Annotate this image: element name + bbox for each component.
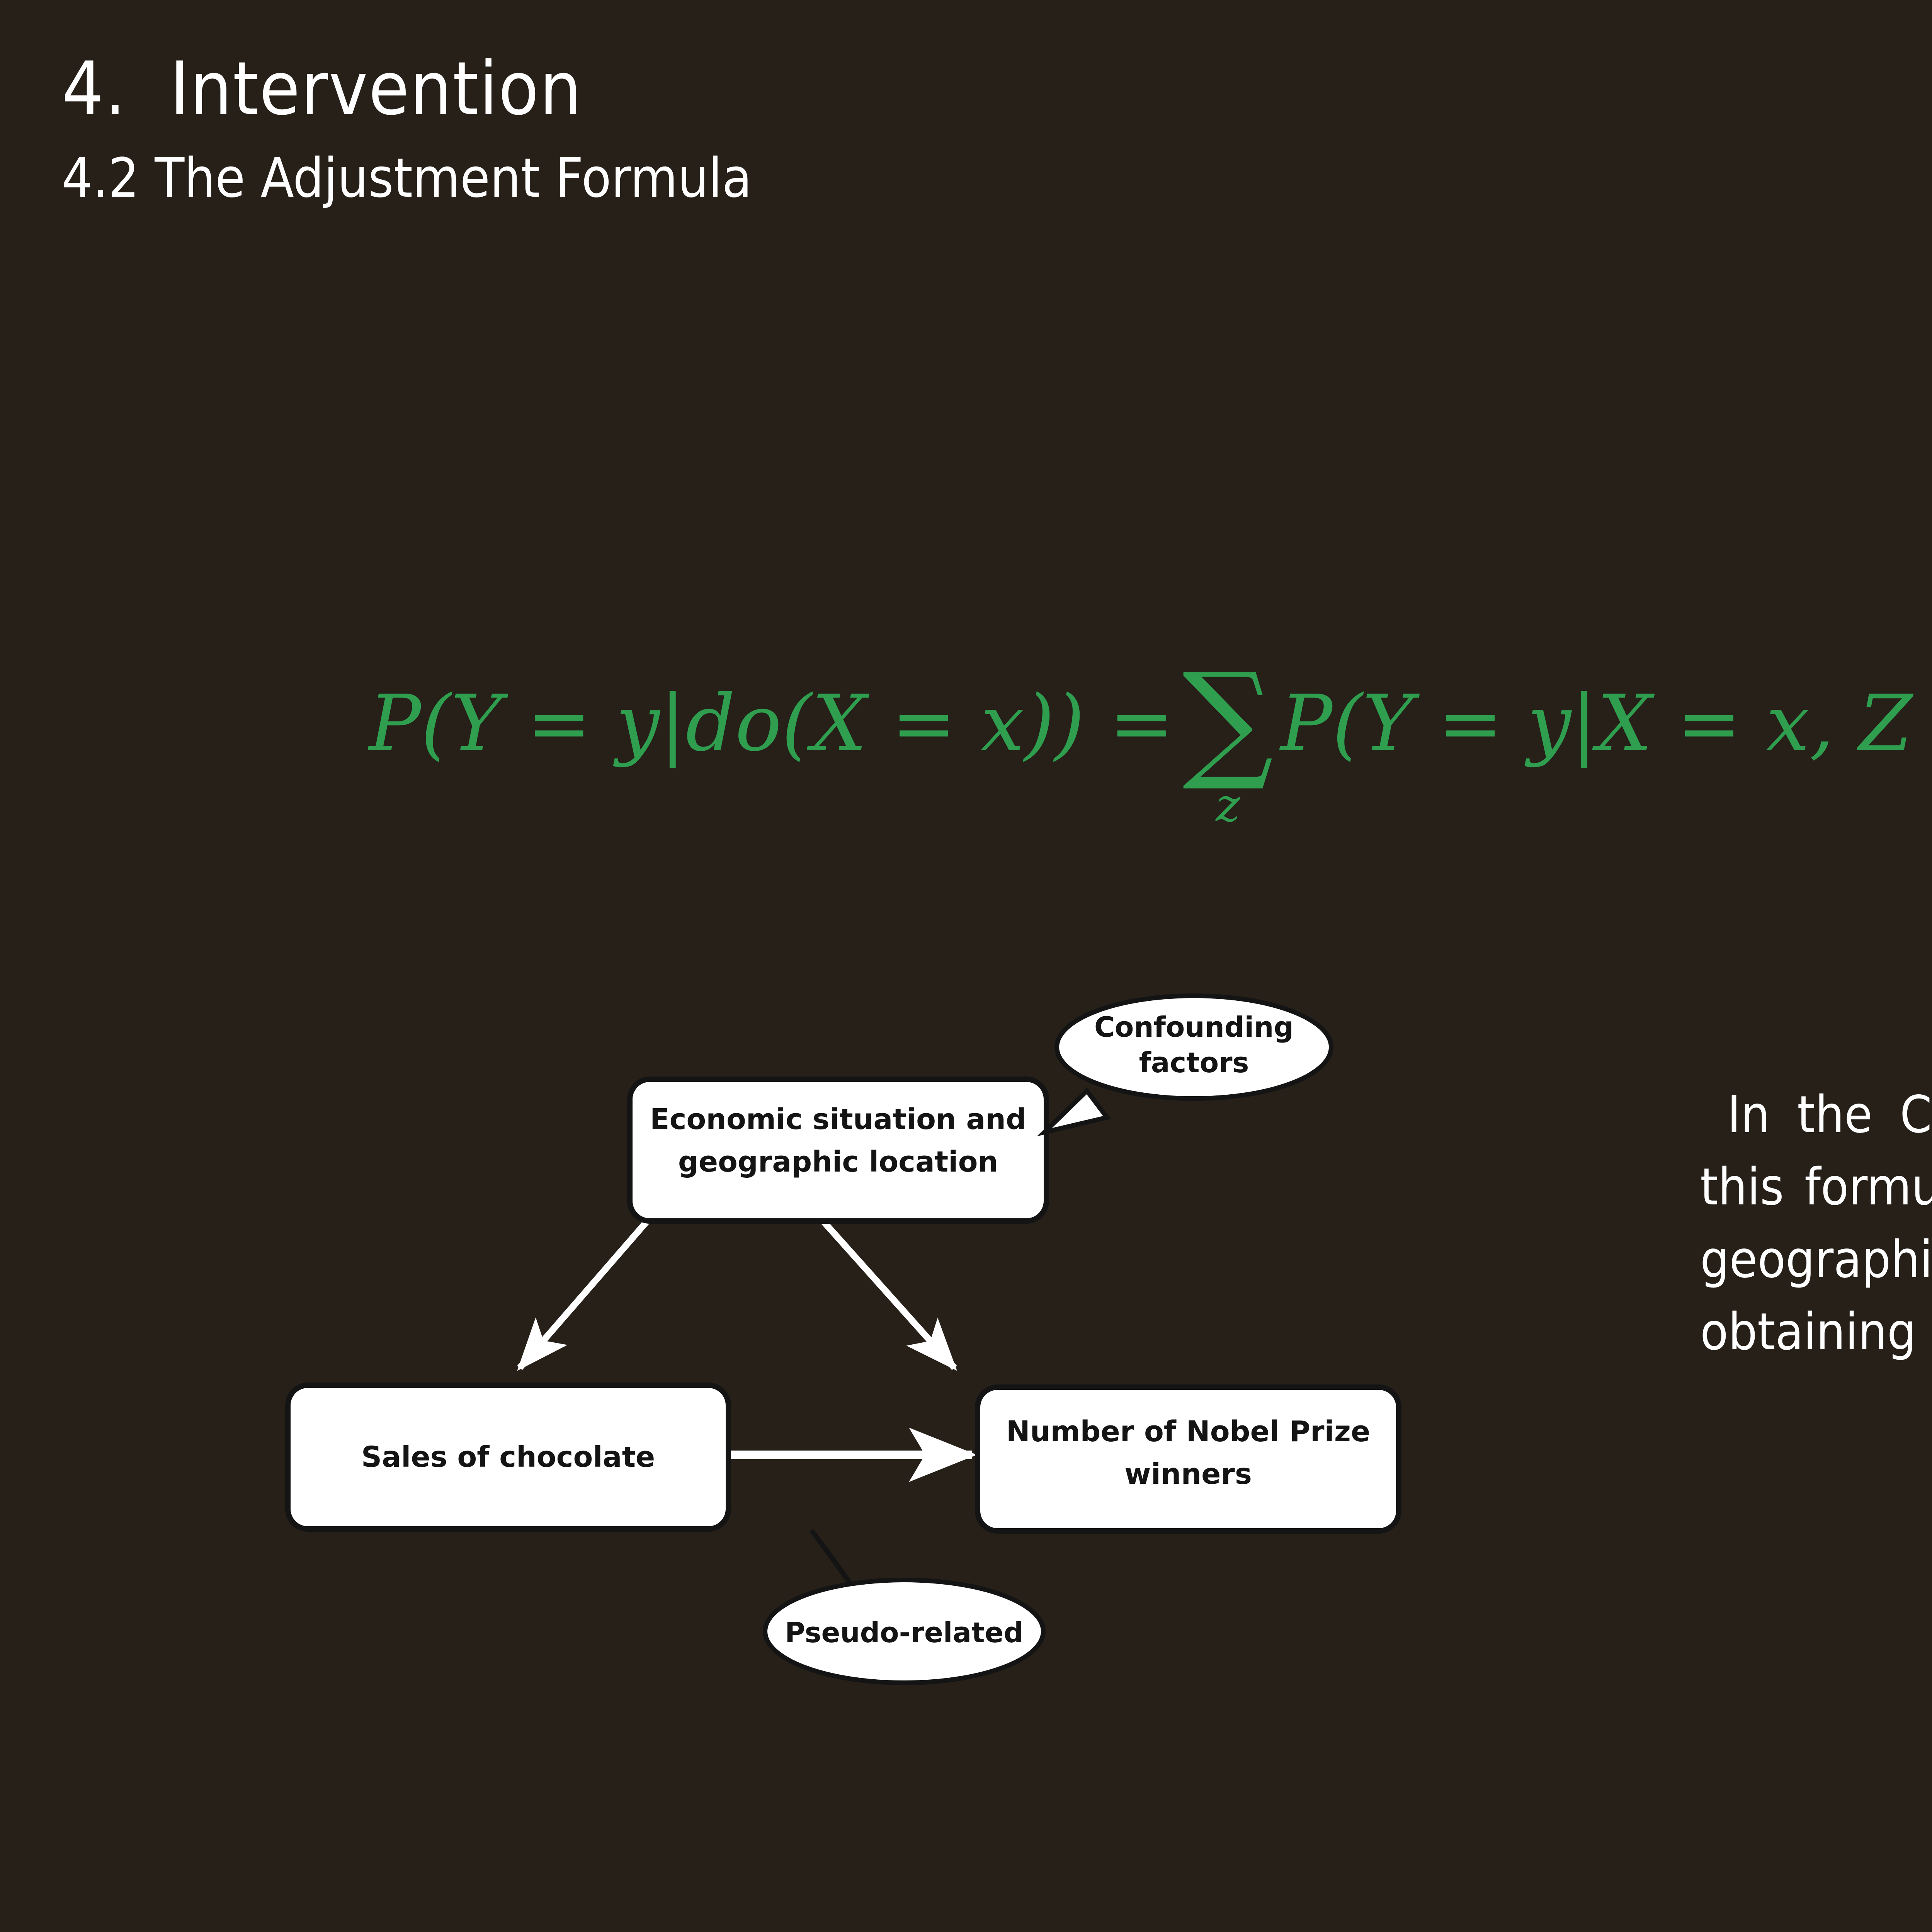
- edge-confounder-to-outcome: [823, 1221, 954, 1368]
- adjustment-formula: P(Y = y|do(X = x)) =∑zP(Y = y|X = x, Z =…: [0, 672, 1932, 768]
- node-outcome[interactable]: Number of Nobel Prize winners: [978, 1387, 1399, 1531]
- callout-confounding-factors[interactable]: Confounding factors: [1044, 996, 1331, 1132]
- node-confounder-line1: Economic situation and: [650, 1103, 1026, 1136]
- node-outcome-line1: Number of Nobel Prize: [1006, 1415, 1370, 1448]
- explanation-paragraph: In the Chocolate Paradox, we can use thi…: [1700, 1079, 1932, 1369]
- summation-symbol: ∑z: [1182, 672, 1274, 768]
- formula-lhs: P(Y = y|do(X = x)) =: [369, 679, 1174, 769]
- callout-pseudo-related[interactable]: Pseudo-related: [765, 1530, 1043, 1683]
- summation-subscript: z: [1216, 788, 1240, 823]
- causal-diagram: Economic situation and geographic locati…: [232, 981, 1488, 1689]
- callout-confounding-line1: Confounding: [1094, 1011, 1294, 1043]
- edge-confounder-to-treatment: [520, 1221, 647, 1368]
- slide-root: 4. Intervention 4.2 The Adjustment Formu…: [0, 0, 1932, 1932]
- callout-confounding-line2: factors: [1139, 1046, 1249, 1079]
- node-confounder[interactable]: Economic situation and geographic locati…: [630, 1079, 1046, 1221]
- page-subtitle: 4.2 The Adjustment Formula: [62, 150, 1932, 207]
- title-block: 4. Intervention 4.2 The Adjustment Formu…: [62, 50, 1932, 207]
- node-treatment[interactable]: Sales of chocolate: [288, 1385, 728, 1529]
- formula-rhs: P(Y = y|X = x, Z = z)P(Z = z): [1281, 679, 1932, 769]
- page-title: 4. Intervention: [62, 50, 1932, 128]
- node-outcome-line2: winners: [1124, 1458, 1252, 1491]
- node-treatment-label: Sales of chocolate: [361, 1440, 655, 1474]
- node-confounder-line2: geographic location: [678, 1145, 998, 1179]
- callout-pseudo-related-label: Pseudo-related: [785, 1616, 1024, 1649]
